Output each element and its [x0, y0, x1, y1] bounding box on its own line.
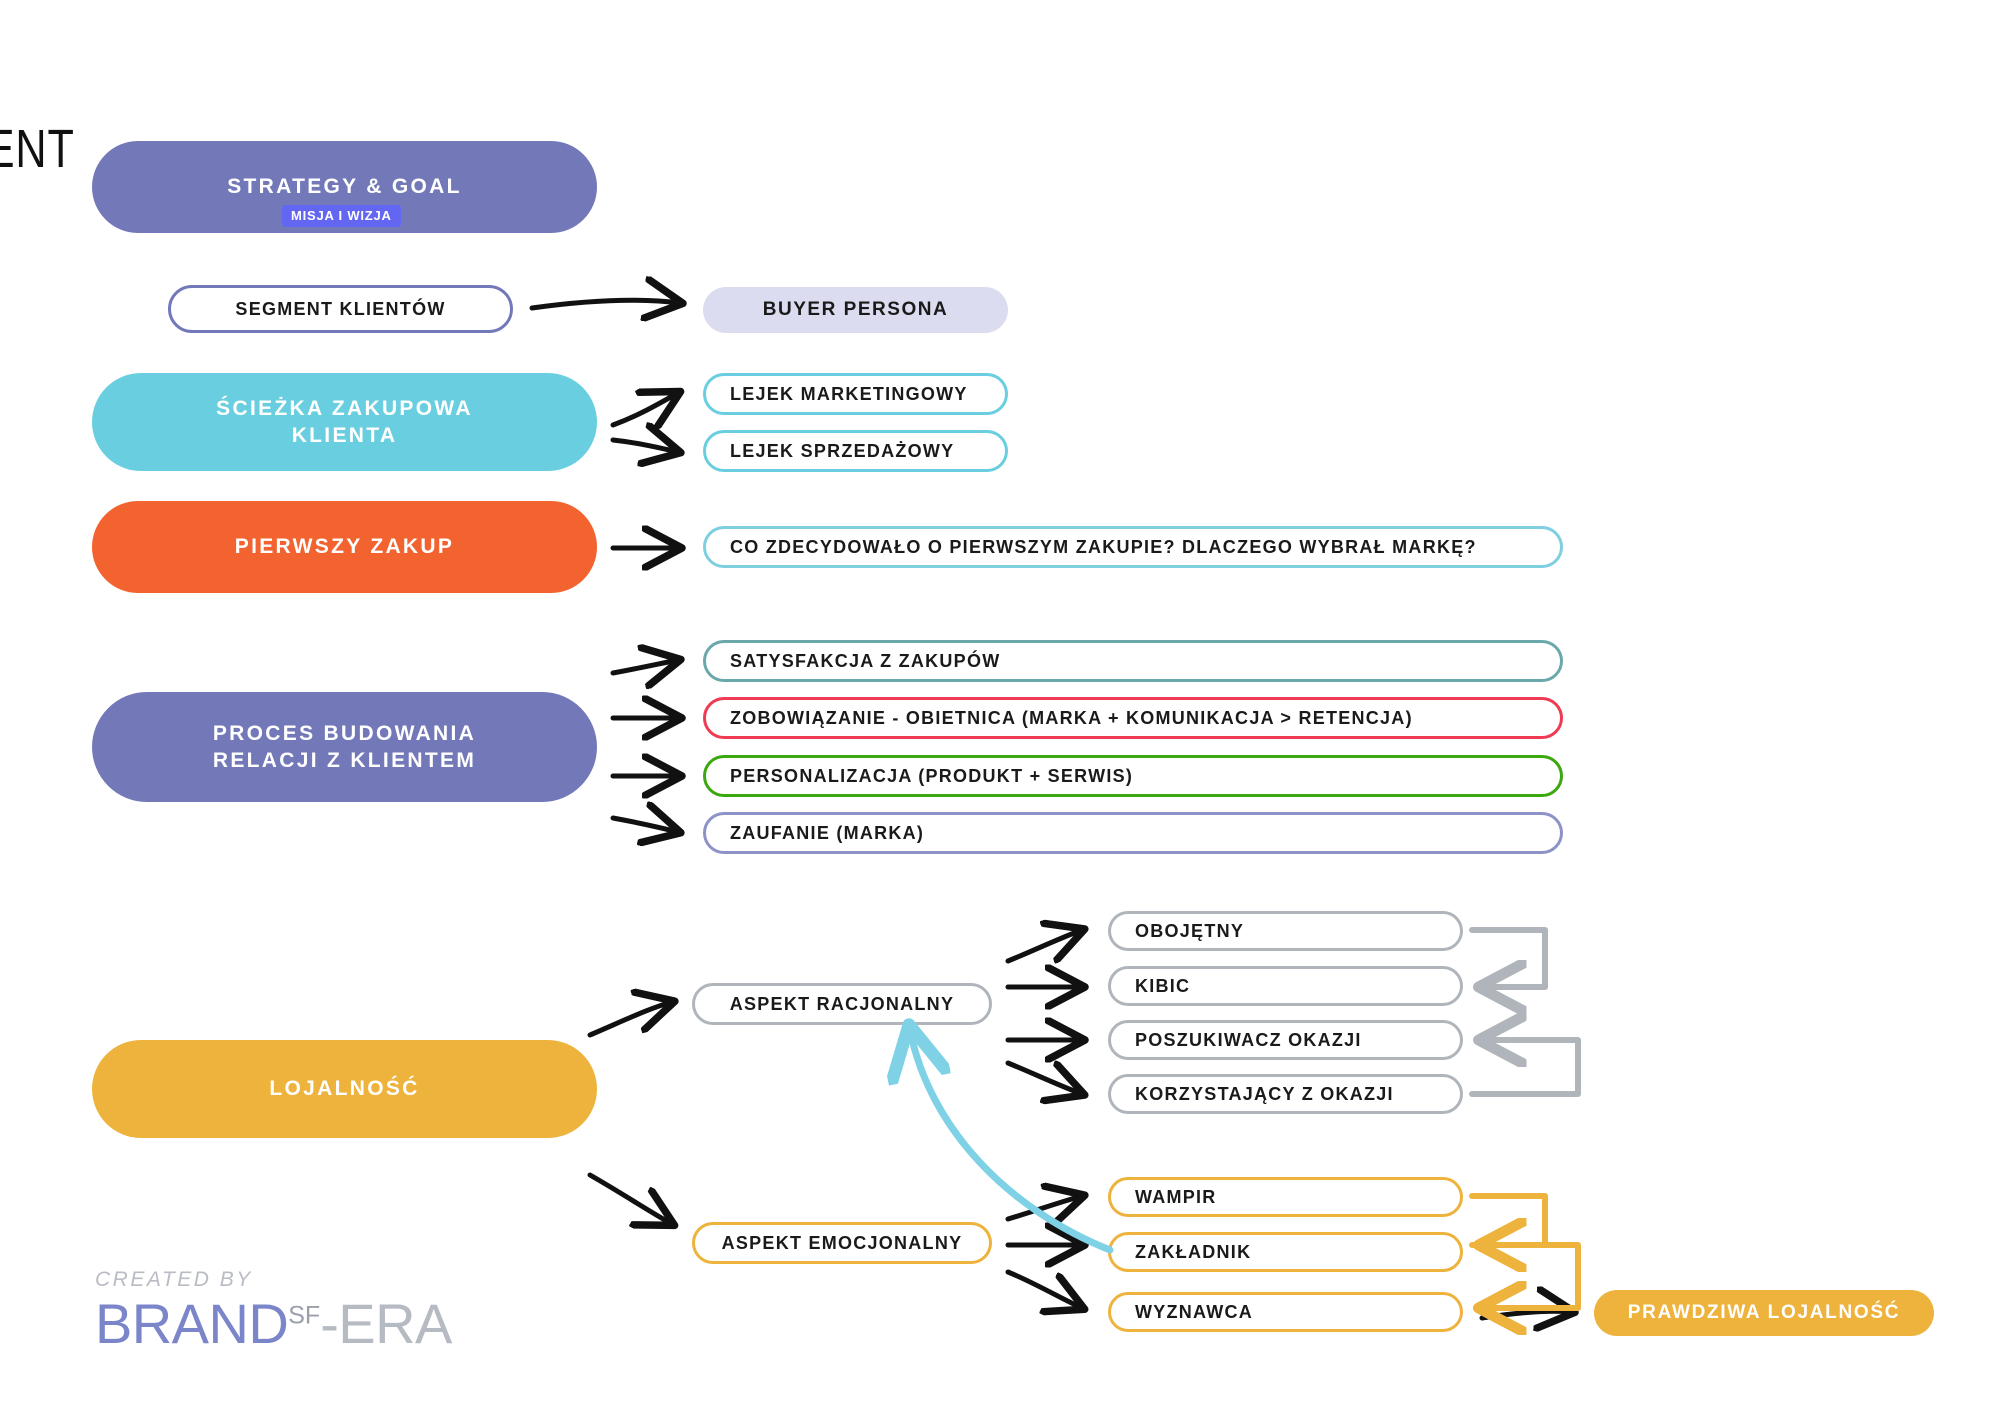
arrow-loyalty-to-rational: [590, 1002, 672, 1035]
badge-misja-i-wizja: MISJA I WIZJA: [282, 205, 401, 227]
bracket-zakladnik-to-wyznawca: [1472, 1245, 1578, 1308]
block-lojalnosc[interactable]: LOJALNOŚĆ: [92, 1040, 597, 1138]
pill-personalizacja-label: PERSONALIZACJA (PRODUKT + SERWIS): [730, 766, 1133, 787]
page-title: RELACJA KLIENT - FIRMA - KLIENT: [0, 118, 75, 180]
block-sciezka-zakupowa[interactable]: ŚCIEŻKA ZAKUPOWA KLIENTA: [92, 373, 597, 471]
pill-lejek-marketingowy-label: LEJEK MARKETINGOWY: [730, 384, 968, 405]
arrow-rational-to-obojetny: [1008, 930, 1082, 961]
pill-obojetny-label: OBOJĘTNY: [1135, 921, 1244, 942]
pill-wampir[interactable]: WAMPIR: [1108, 1177, 1463, 1217]
pill-aspekt-emocjonalny-label: ASPEKT EMOCJONALNY: [722, 1233, 963, 1254]
arrow-process-to-satysfakcja: [613, 660, 678, 673]
pill-korzystajacy-z-okazji[interactable]: KORZYSTAJĄCY Z OKAZJI: [1108, 1074, 1463, 1114]
pill-zobowiazanie-obietnica-label: ZOBOWIĄZANIE - OBIETNICA (MARKA + KOMUNI…: [730, 708, 1413, 729]
arrow-path-to-sales: [613, 440, 678, 452]
pill-zobowiazanie-obietnica[interactable]: ZOBOWIĄZANIE - OBIETNICA (MARKA + KOMUNI…: [703, 697, 1563, 739]
logo-brand-text: BRAND: [95, 1292, 288, 1355]
pill-aspekt-emocjonalny[interactable]: ASPEKT EMOCJONALNY: [692, 1222, 992, 1264]
pill-lejek-sprzedazowy[interactable]: LEJEK SPRZEDAŻOWY: [703, 430, 1008, 472]
pill-poszukiwacz-okazji[interactable]: POSZUKIWACZ OKAZJI: [1108, 1020, 1463, 1060]
pill-first-purchase-question-label: CO ZDECYDOWAŁO O PIERWSZYM ZAKUPIE? DLAC…: [730, 537, 1477, 558]
block-proces-budowania-relacji[interactable]: PROCES BUDOWANIA RELACJI Z KLIENTEM: [92, 692, 597, 802]
logo-wordmark: BRANDSF-ERA: [95, 1296, 452, 1352]
arrow-zakladnik-to-rational: [910, 1030, 1110, 1250]
pill-buyer-persona-label: BUYER PERSONA: [763, 299, 949, 321]
pill-wyznawca-label: WYZNAWCA: [1135, 1302, 1253, 1323]
bracket-korzystajacy-to-poszukiwacz: [1472, 1040, 1578, 1094]
pill-zaufanie-marka-label: ZAUFANIE (MARKA): [730, 823, 924, 844]
pill-prawdziwa-lojalnosc-label: PRAWDZIWA LOJALNOŚĆ: [1628, 1302, 1900, 1324]
logo-era-text: ERA: [338, 1292, 451, 1355]
arrow-loyalty-to-emotional: [590, 1175, 672, 1224]
arrow-segment-to-persona: [532, 300, 680, 308]
logo-created-by: CREATED BY: [95, 1268, 452, 1292]
arrow-path-to-marketing: [613, 393, 678, 425]
pill-first-purchase-question[interactable]: CO ZDECYDOWAŁO O PIERWSZYM ZAKUPIE? DLAC…: [703, 526, 1563, 568]
brand-logo: CREATED BY BRANDSF-ERA: [95, 1268, 452, 1352]
arrow-emotional-to-wampir: [1008, 1196, 1082, 1219]
pill-zakladnik[interactable]: ZAKŁADNIK: [1108, 1232, 1463, 1272]
pill-lejek-marketingowy[interactable]: LEJEK MARKETINGOWY: [703, 373, 1008, 415]
bracket-obojetny-to-kibic: [1472, 930, 1545, 987]
block-pierwszy-zakup[interactable]: PIERWSZY ZAKUP: [92, 501, 597, 593]
logo-sf-text: SF: [288, 1301, 320, 1329]
infographic-canvas: RELACJA KLIENT - FIRMA - KLIENT STRATEGY…: [0, 0, 2000, 1414]
block-pierwszy-zakup-label: PIERWSZY ZAKUP: [235, 533, 454, 560]
pill-poszukiwacz-okazji-label: POSZUKIWACZ OKAZJI: [1135, 1030, 1362, 1051]
arrow-emotional-to-wyznawca: [1008, 1272, 1082, 1308]
block-strategy-goal-label: STRATEGY & GOAL: [227, 173, 462, 200]
pill-obojetny[interactable]: OBOJĘTNY: [1108, 911, 1463, 951]
pill-buyer-persona[interactable]: BUYER PERSONA: [703, 287, 1008, 333]
pill-wyznawca[interactable]: WYZNAWCA: [1108, 1292, 1463, 1332]
block-sciezka-zakupowa-label: ŚCIEŻKA ZAKUPOWA KLIENTA: [216, 395, 473, 450]
pill-personalizacja[interactable]: PERSONALIZACJA (PRODUKT + SERWIS): [703, 755, 1563, 797]
block-lojalnosc-label: LOJALNOŚĆ: [269, 1075, 419, 1102]
bracket-wampir-to-zakladnik: [1472, 1196, 1545, 1245]
pill-prawdziwa-lojalnosc[interactable]: PRAWDZIWA LOJALNOŚĆ: [1594, 1290, 1934, 1336]
pill-kibic[interactable]: KIBIC: [1108, 966, 1463, 1006]
pill-aspekt-racjonalny[interactable]: ASPEKT RACJONALNY: [692, 983, 992, 1025]
pill-satysfakcja-z-zakupow[interactable]: SATYSFAKCJA Z ZAKUPÓW: [703, 640, 1563, 682]
pill-segment-klientow[interactable]: SEGMENT KLIENTÓW: [168, 285, 513, 333]
logo-dash: -: [320, 1292, 338, 1355]
pill-korzystajacy-z-okazji-label: KORZYSTAJĄCY Z OKAZJI: [1135, 1084, 1394, 1105]
arrow-wyznawca-to-outcome: [1482, 1311, 1572, 1318]
pill-segment-klientow-label: SEGMENT KLIENTÓW: [235, 299, 445, 320]
block-proces-budowania-relacji-label: PROCES BUDOWANIA RELACJI Z KLIENTEM: [213, 720, 476, 775]
pill-zakladnik-label: ZAKŁADNIK: [1135, 1242, 1251, 1263]
pill-lejek-sprzedazowy-label: LEJEK SPRZEDAŻOWY: [730, 441, 954, 462]
pill-wampir-label: WAMPIR: [1135, 1187, 1217, 1208]
pill-aspekt-racjonalny-label: ASPEKT RACJONALNY: [730, 994, 954, 1015]
arrow-rational-to-korzystajacy: [1008, 1063, 1082, 1094]
pill-satysfakcja-z-zakupow-label: SATYSFAKCJA Z ZAKUPÓW: [730, 651, 1000, 672]
pill-zaufanie-marka[interactable]: ZAUFANIE (MARKA): [703, 812, 1563, 854]
arrow-process-to-zaufanie: [613, 818, 678, 832]
pill-kibic-label: KIBIC: [1135, 976, 1190, 997]
